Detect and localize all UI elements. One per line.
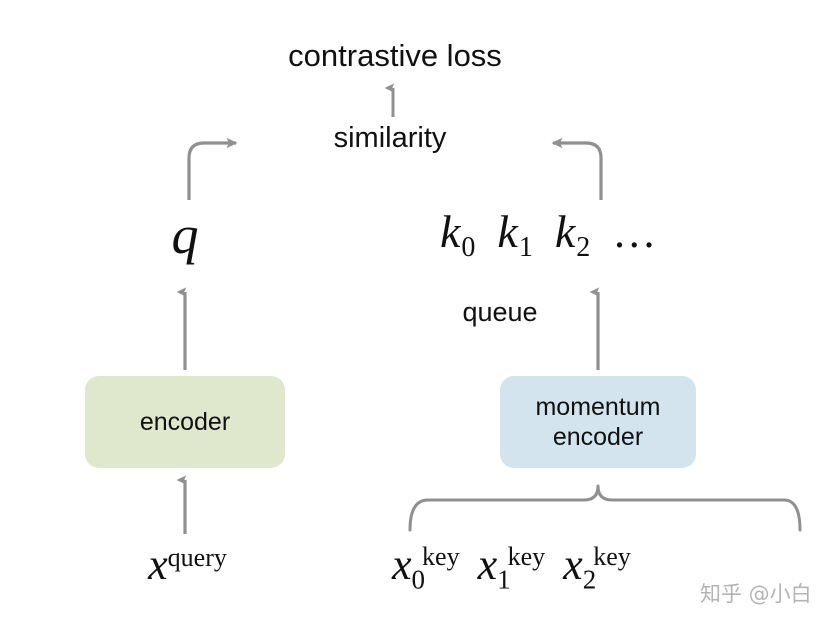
key-vector-0: k0 [440,206,475,264]
momentum-encoder-box-label: momentumencoder [535,392,660,452]
contrastive-loss-label: contrastive loss [0,38,790,74]
queue-label: queue [390,297,610,328]
momentum-encoder-box[interactable]: momentumencoder [500,376,696,468]
key-vector-2-subscript: 2 [576,232,590,263]
key-vector-0-base: k [440,206,460,257]
key-input-2: x2key [563,540,631,596]
key-input-0: x0key [392,540,460,596]
key-vector-1-base: k [497,206,517,257]
query-input-base: x [148,540,168,589]
arrow-q-to-similarity [189,143,236,200]
key-vectors-row: k0 k1 k2 … [440,206,760,264]
watermark: 知乎 @小白 [700,578,812,608]
moco-diagram: contrastive loss similarity queue q k0 k… [0,0,826,634]
encoder-box-label: encoder [140,407,230,437]
similarity-label: similarity [240,122,540,155]
key-input-2-base: x [563,540,583,589]
query-vector-symbol: q [100,204,270,266]
query-input-symbol: xquery [100,540,275,591]
arrow-keys-to-similarity [553,143,601,200]
momentum-encoder-label-line1: momentum [535,393,660,421]
key-input-2-superscript: key [593,542,631,571]
key-vector-1: k1 [497,206,532,264]
key-vector-1-subscript: 1 [519,232,533,263]
key-vectors-ellipsis: … [612,208,659,259]
key-input-0-superscript: key [422,542,460,571]
key-input-1-superscript: key [508,542,546,571]
brace-key-inputs [410,486,800,530]
key-inputs-row: x0key x1key x2key [392,540,732,596]
key-vector-0-subscript: 0 [461,232,475,263]
encoder-box[interactable]: encoder [85,376,285,468]
key-input-0-base: x [392,540,412,589]
key-input-1-base: x [478,540,498,589]
query-input-superscript: query [168,543,227,572]
key-input-1: x1key [478,540,546,596]
momentum-encoder-label-line2: encoder [553,423,643,451]
key-vector-2: k2 [555,206,590,264]
key-vector-2-base: k [555,206,575,257]
